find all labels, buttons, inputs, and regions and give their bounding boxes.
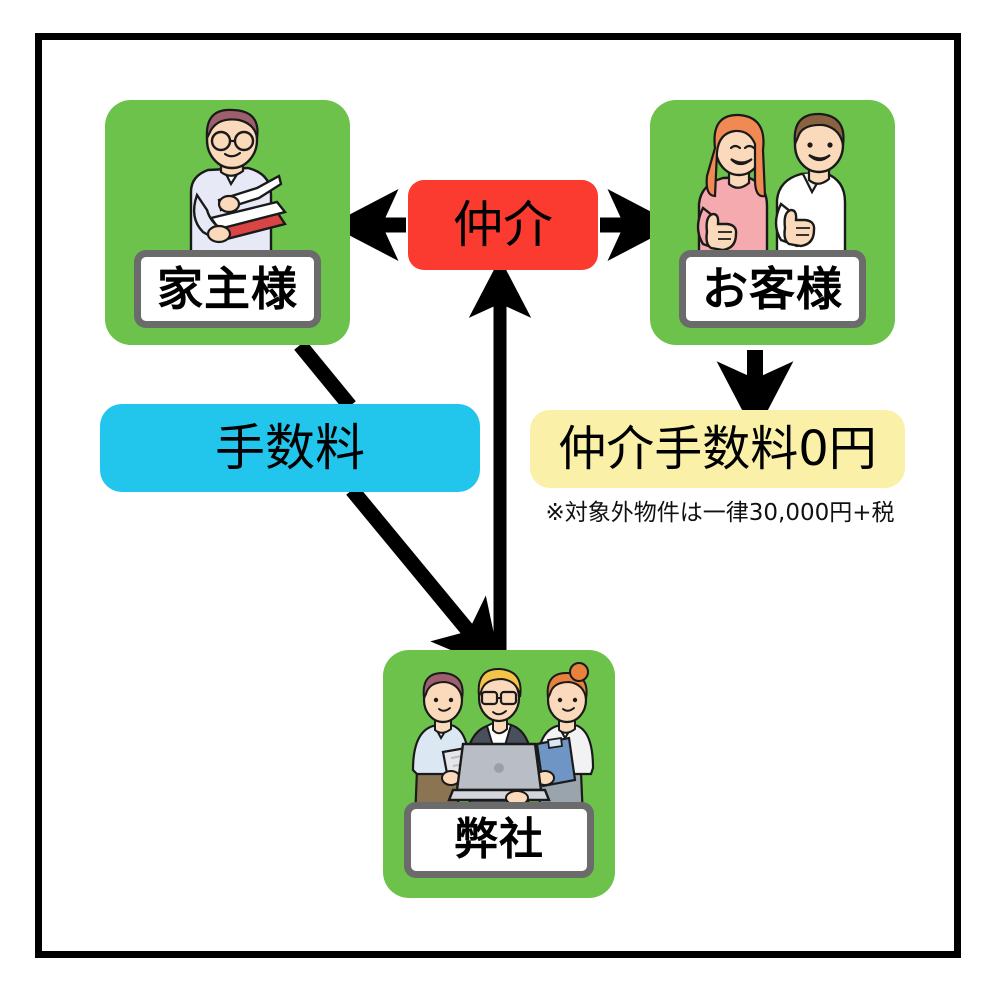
diagram-canvas: 家主様 [0,0,1000,1000]
couple-thumbs-up-icon [650,100,895,265]
card-company[interactable]: 弊社 [383,650,615,898]
pill-fee-label: 手数料 [215,423,365,473]
man-reading-books-icon [105,100,350,265]
exclusion-note: ※対象外物件は一律30,000円+税 [530,500,910,528]
pill-brokerage[interactable]: 仲介 [408,180,598,270]
card-customer-plate: お客様 [679,250,865,328]
card-company-plate: 弊社 [404,802,594,878]
card-landlord-plate: 家主様 [134,250,320,328]
card-landlord-label: 家主様 [157,266,298,312]
pill-zero-brokerage-fee[interactable]: 仲介手数料0円 [530,410,905,488]
card-landlord[interactable]: 家主様 [105,100,350,345]
card-company-label: 弊社 [454,818,544,862]
card-customer[interactable]: お客様 [650,100,895,345]
pill-fee[interactable]: 手数料 [100,404,480,492]
pill-zeroyen-label: 仲介手数料0円 [558,425,877,473]
pill-brokerage-label: 仲介 [453,200,553,250]
card-customer-label: お客様 [702,266,843,312]
three-business-people-laptop-icon [383,650,615,820]
